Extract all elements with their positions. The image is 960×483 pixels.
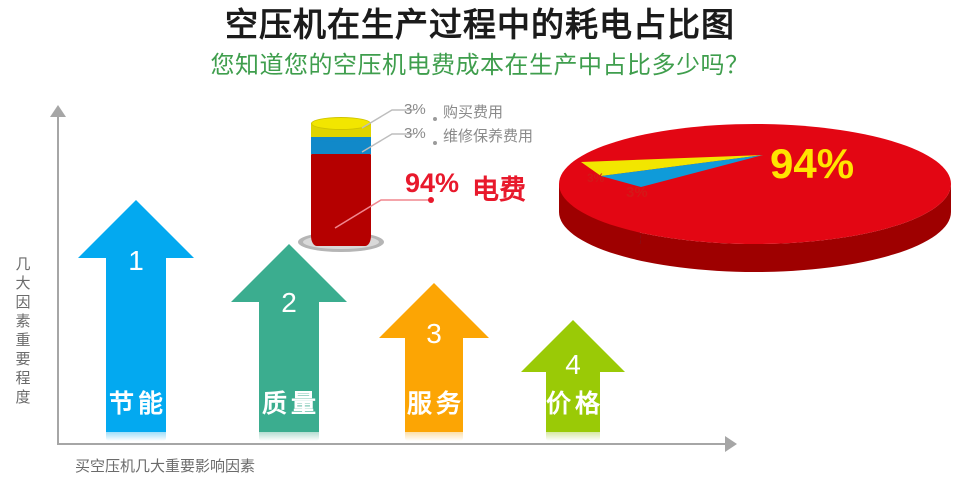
callout-dot-purchase	[433, 117, 437, 121]
arrow-reflection-3	[405, 432, 463, 441]
pie-label-electricity: 94%	[770, 140, 854, 188]
pie-label-purchase: 3%	[587, 171, 604, 185]
callout-percent-purchase: 3%	[404, 101, 426, 118]
infographic-canvas: 空压机在生产过程中的耗电占比图 您知道您的空压机电费成本在生产中占比多少吗？ 几…	[0, 0, 960, 483]
x-axis-line	[57, 443, 729, 445]
page-title: 空压机在生产过程中的耗电占比图	[0, 4, 960, 46]
factor-label-1: 节能	[78, 390, 194, 418]
page-subtitle: 您知道您的空压机电费成本在生产中占比多少吗？	[0, 50, 960, 82]
y-axis-line	[57, 115, 59, 445]
pie-chart-3d[interactable]	[545, 112, 960, 272]
arrow-reflection-1	[106, 432, 166, 441]
factor-arrow-3[interactable]: 3 服务	[379, 283, 489, 432]
factor-arrow-1[interactable]: 1 节能	[78, 200, 194, 432]
factor-label-4: 价格	[521, 390, 625, 418]
callout-dot-maintenance	[433, 141, 437, 145]
x-axis-arrow-icon	[725, 436, 737, 452]
arrow-reflection-2	[259, 432, 319, 441]
factor-rank-3: 3	[379, 319, 489, 349]
factor-arrow-4[interactable]: 4 价格	[521, 320, 625, 432]
pie-label-maintenance: 3%	[626, 184, 648, 201]
y-axis-arrow-icon	[50, 105, 66, 117]
arrow-reflection-4	[546, 432, 600, 441]
x-axis-label: 买空压机几大重要影响因素	[75, 455, 255, 476]
factor-arrow-2[interactable]: 2 质量	[231, 244, 347, 432]
factor-rank-2: 2	[231, 288, 347, 318]
y-axis-label: 几大因素重要程度	[10, 255, 36, 407]
callout-label-purchase: 购买费用	[443, 101, 503, 122]
callout-percent-electricity: 94%	[405, 168, 459, 199]
factor-rank-1: 1	[78, 246, 194, 276]
factor-rank-4: 4	[521, 350, 625, 380]
callout-label-maintenance: 维修保养费用	[443, 125, 533, 146]
factor-label-3: 服务	[379, 390, 489, 418]
callout-percent-maintenance: 3%	[404, 125, 426, 142]
callout-label-electricity: 电费	[472, 168, 526, 207]
factor-label-2: 质量	[231, 390, 347, 418]
